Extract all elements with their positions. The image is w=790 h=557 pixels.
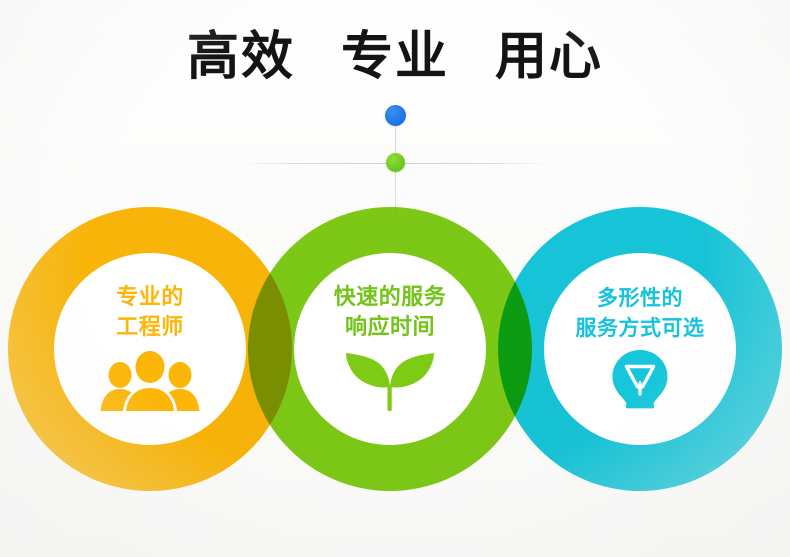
panel-2-line-2: 响应时间 xyxy=(334,313,447,343)
panel-3-text: 多形性的 服务方式可选 xyxy=(576,283,705,343)
panel-professional-engineers[interactable]: 专业的 工程师 xyxy=(54,253,246,445)
infographic-canvas: 高效专业用心 专业的 工程师 xyxy=(0,0,790,557)
panel-1-line-2: 工程师 xyxy=(116,313,184,343)
panel-fast-service-response[interactable]: 快速的服务 响应时间 xyxy=(294,253,486,445)
panel-flexible-service-options[interactable]: 多形性的 服务方式可选 xyxy=(544,253,736,445)
panel-1-line-1: 专业的 xyxy=(116,285,184,310)
sprout-leaf-icon xyxy=(335,349,445,411)
panel-3-line-2: 服务方式可选 xyxy=(576,313,705,343)
people-group-icon xyxy=(95,349,205,411)
lightbulb-icon xyxy=(585,349,695,411)
panel-2-text: 快速的服务 响应时间 xyxy=(334,283,447,343)
panel-2-line-1: 快速的服务 xyxy=(334,285,447,310)
panel-1-text: 专业的 工程师 xyxy=(116,283,184,343)
panel-3-line-1: 多形性的 xyxy=(597,286,683,310)
